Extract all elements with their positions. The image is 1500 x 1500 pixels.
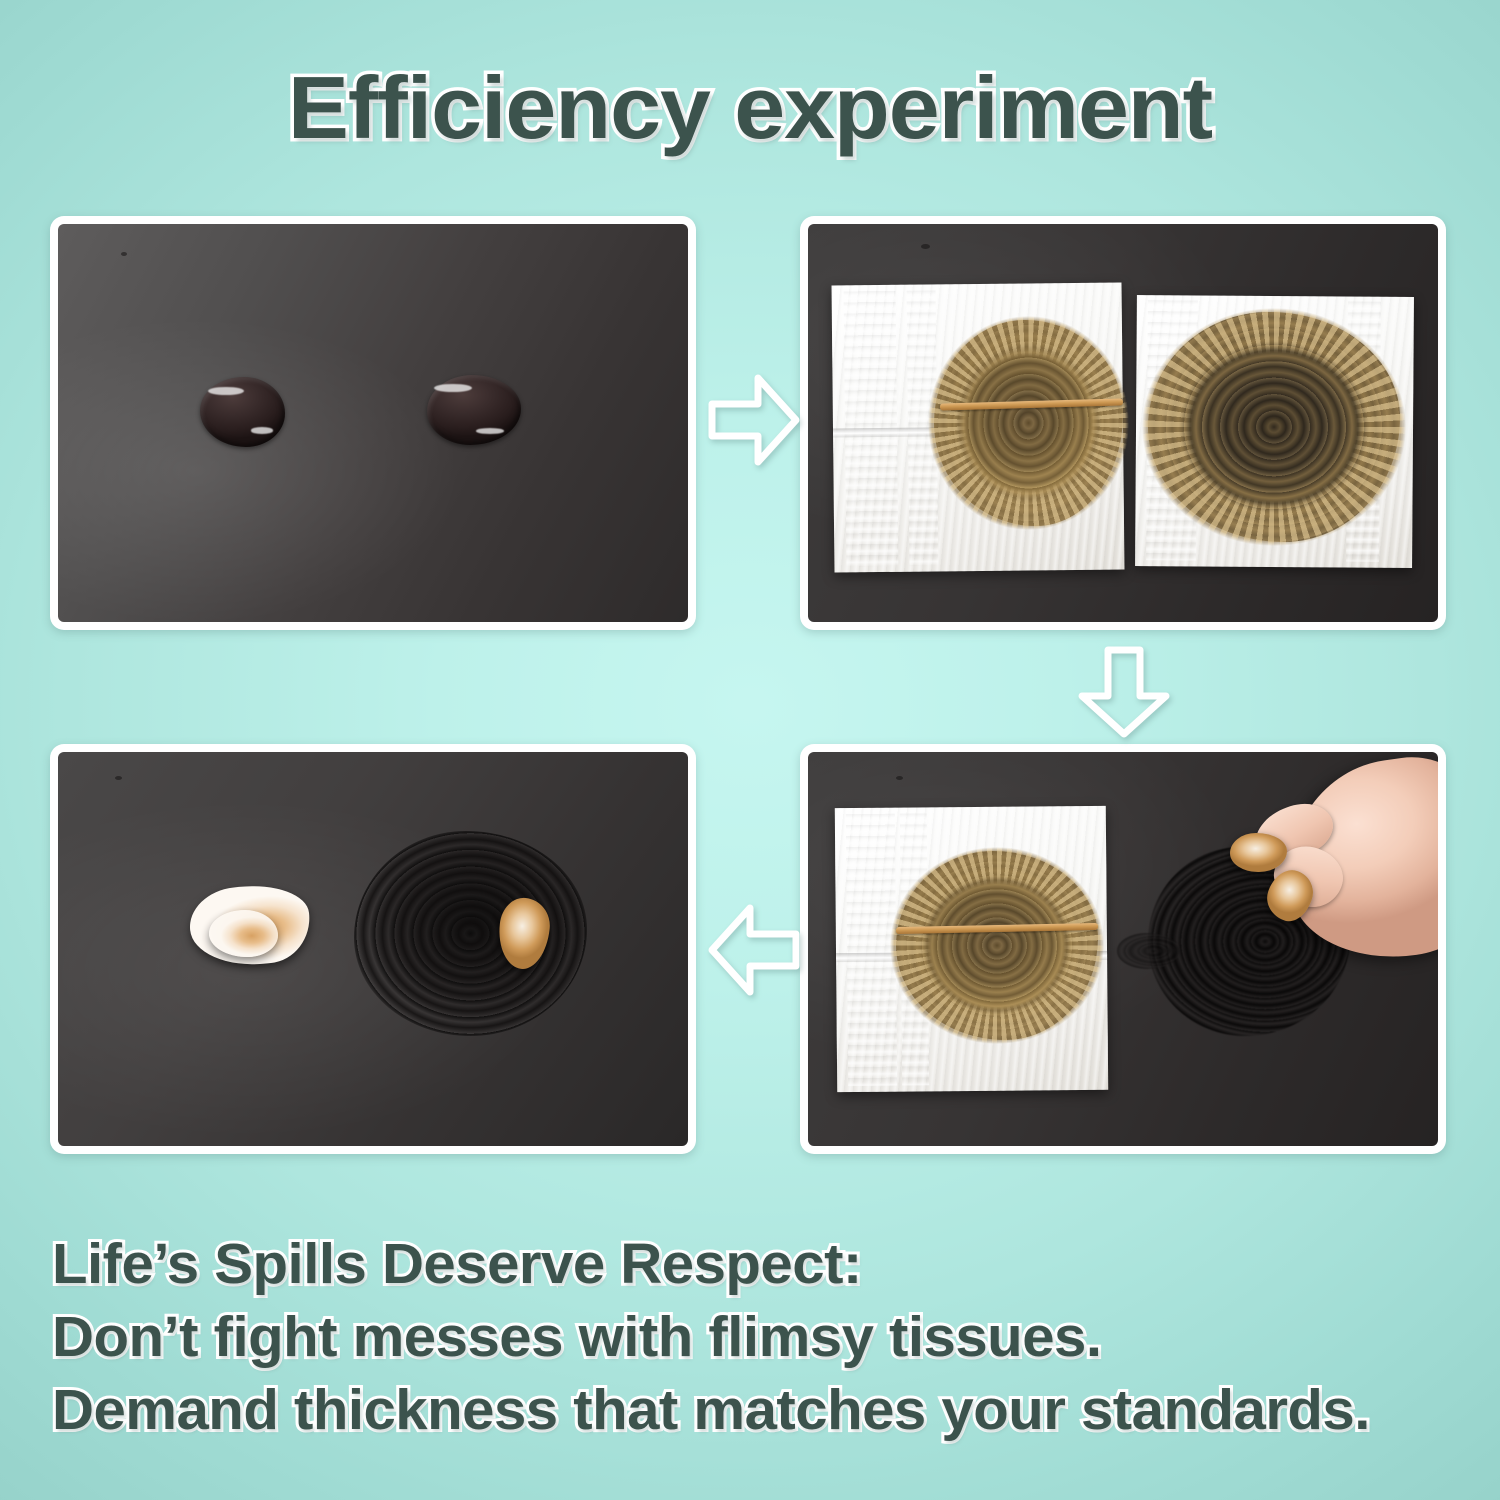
- absorbed-stain-feather: [890, 847, 1104, 1044]
- photo-panel-4-residue: [58, 752, 688, 1146]
- photo-panel-2-towels-absorbing: [808, 224, 1438, 622]
- photo-panel-3-hand-wiping: [808, 752, 1438, 1146]
- absorbed-stain-right-feather: [1142, 308, 1407, 547]
- caption-block: Life’s Spills Deserve Respect: Don’t fig…: [52, 1228, 1472, 1447]
- desk-speck: [121, 252, 127, 256]
- desk-speck: [896, 776, 903, 780]
- blob-highlight: [208, 387, 244, 395]
- spill-blob-left: [200, 377, 285, 447]
- absorbed-stain-left-feather: [928, 316, 1130, 531]
- crumpled-tissue-fold: [209, 910, 278, 957]
- desk-surface: [58, 224, 688, 622]
- desk-speck: [115, 776, 122, 780]
- residue-puddle: [354, 831, 587, 1036]
- photo-frame-panel-1[interactable]: [50, 216, 696, 630]
- photo-frame-panel-2[interactable]: [800, 216, 1446, 630]
- blob-highlight: [434, 384, 472, 392]
- blob-highlight: [251, 427, 273, 433]
- caption-line-2: Don’t fight messes with flimsy tissues.: [52, 1301, 1500, 1374]
- arrow-down-icon: [1072, 646, 1176, 738]
- poster-canvas: Efficiency experiment: [0, 0, 1500, 1500]
- blob-highlight: [476, 428, 504, 434]
- caption-line-3: Demand thickness that matches your stand…: [52, 1374, 1500, 1447]
- wet-smear-tail: [1117, 933, 1180, 968]
- arrow-right-icon: [708, 368, 800, 472]
- photo-frame-panel-4[interactable]: [50, 744, 696, 1154]
- photo-panel-1-spills: [58, 224, 688, 622]
- arrow-left-icon: [708, 898, 800, 1002]
- photo-frame-panel-3[interactable]: [800, 744, 1446, 1154]
- page-title: Efficiency experiment: [0, 64, 1500, 152]
- caption-line-1: Life’s Spills Deserve Respect:: [52, 1228, 1500, 1301]
